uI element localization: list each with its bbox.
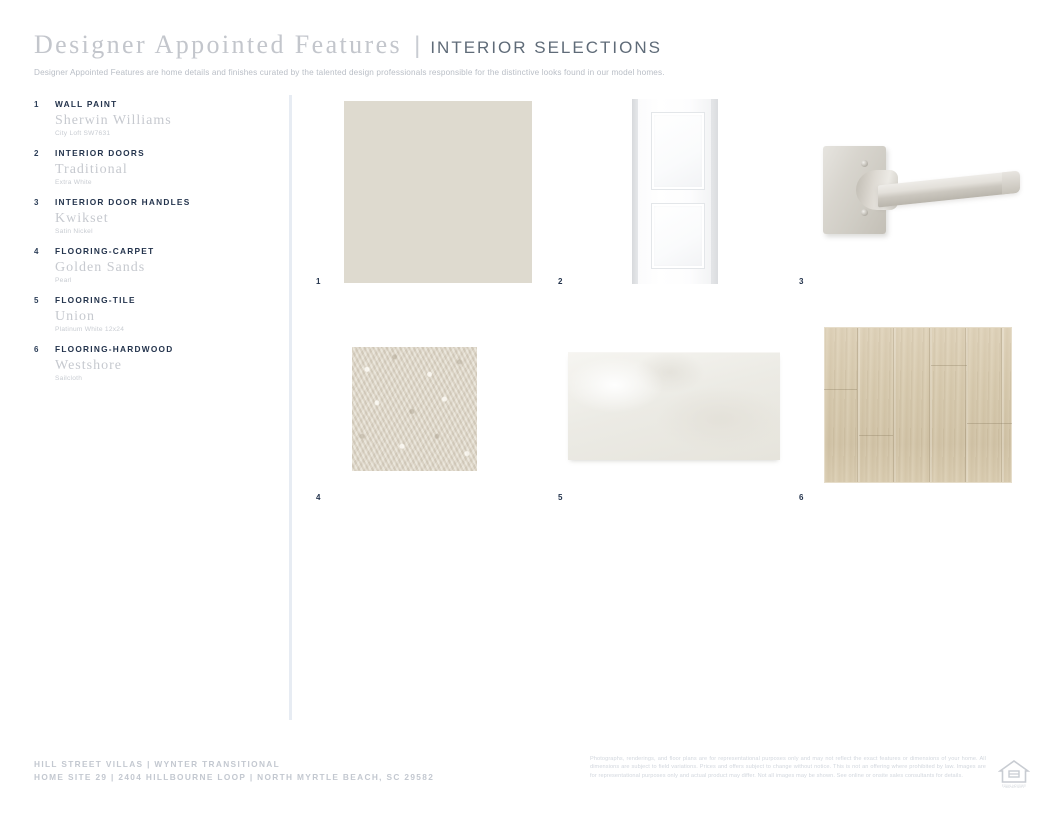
swatch-number-5: 5: [558, 493, 563, 502]
list-item-detail: Pearl: [55, 276, 274, 285]
door-panel-top: [651, 112, 705, 190]
footer-community-info: HILL STREET VILLAS | WYNTER TRANSITIONAL…: [34, 758, 434, 784]
list-item[interactable]: 2 INTERIOR DOORS Traditional Extra White: [34, 147, 274, 187]
list-item-number: 1: [34, 100, 50, 109]
page-title: Designer Appointed Features | INTERIOR S…: [34, 30, 1024, 60]
list-item-detail: Satin Nickel: [55, 227, 274, 236]
wood-plank-seam: [859, 435, 893, 436]
list-item-category: INTERIOR DOOR HANDLES: [55, 196, 274, 208]
selections-list: 1 WALL PAINT Sherwin Williams City Loft …: [34, 98, 274, 392]
list-item-brand: Golden Sands: [55, 260, 274, 275]
list-item-brand: Traditional: [55, 162, 274, 177]
designer-features-page: Designer Appointed Features | INTERIOR S…: [0, 0, 1055, 815]
list-item-detail: Sailcloth: [55, 374, 274, 383]
title-main: Designer Appointed Features: [34, 30, 402, 60]
swatch-number-1: 1: [316, 277, 321, 286]
door-body: [638, 99, 712, 284]
list-item-number: 6: [34, 345, 50, 354]
page-subtitle: Designer Appointed Features are home det…: [34, 68, 1024, 77]
swatch-number-6: 6: [799, 493, 804, 502]
list-item-category: FLOORING-HARDWOOD: [55, 343, 274, 355]
handle-lever: [878, 171, 1020, 208]
list-item-brand: Sherwin Williams: [55, 113, 274, 128]
list-item-brand: Union: [55, 309, 274, 324]
title-divider: |: [414, 32, 420, 60]
list-item-detail: Extra White: [55, 178, 274, 187]
footer-line-1: HILL STREET VILLAS | WYNTER TRANSITIONAL: [34, 758, 434, 771]
svg-text:OPPORTUNITY: OPPORTUNITY: [1003, 785, 1024, 788]
door-panel-bottom: [651, 203, 705, 269]
wood-plank-seam: [967, 423, 1012, 424]
list-item-number: 4: [34, 247, 50, 256]
list-item-category: WALL PAINT: [55, 98, 274, 110]
hardwood-image: [824, 327, 1012, 483]
wood-plank-seam: [824, 389, 857, 390]
list-item-number: 3: [34, 198, 50, 207]
swatch-number-4: 4: [316, 493, 321, 502]
rose-screw-icon: [861, 209, 868, 216]
rose-screw-icon: [861, 160, 868, 167]
list-item-brand: Kwikset: [55, 211, 274, 226]
equal-housing-opportunity-icon: EQUAL HOUSING OPPORTUNITY: [998, 757, 1030, 788]
footer-line-2: HOME SITE 29 | 2404 HILLBOURNE LOOP | NO…: [34, 771, 434, 784]
list-item-number: 2: [34, 149, 50, 158]
list-item[interactable]: 4 FLOORING-CARPET Golden Sands Pearl: [34, 245, 274, 285]
list-item[interactable]: 1 WALL PAINT Sherwin Williams City Loft …: [34, 98, 274, 138]
list-item-number: 5: [34, 296, 50, 305]
list-item[interactable]: 5 FLOORING-TILE Union Platinum White 12x…: [34, 294, 274, 334]
list-item-detail: Platinum White 12x24: [55, 325, 274, 334]
list-item-category: FLOORING-TILE: [55, 294, 274, 306]
title-subheading: INTERIOR SELECTIONS: [430, 38, 662, 58]
swatch-number-2: 2: [558, 277, 563, 286]
carpet-image: [352, 347, 477, 471]
paint-swatch-image: [344, 101, 532, 283]
list-item-category: INTERIOR DOORS: [55, 147, 274, 159]
handle-lever-tip: [1002, 171, 1020, 195]
list-item-brand: Westshore: [55, 358, 274, 373]
list-item-detail: City Loft SW7631: [55, 129, 274, 138]
list-item[interactable]: 6 FLOORING-HARDWOOD Westshore Sailcloth: [34, 343, 274, 383]
door-handle-image: [818, 142, 1020, 242]
wood-plank-seam: [931, 365, 967, 366]
list-item[interactable]: 3 INTERIOR DOOR HANDLES Kwikset Satin Ni…: [34, 196, 274, 236]
footer-legal-disclaimer: Photographs, renderings, and floor plans…: [590, 755, 986, 780]
door-image: [632, 99, 718, 284]
tile-image: [568, 352, 780, 460]
swatch-number-3: 3: [799, 277, 804, 286]
vertical-divider: [289, 95, 292, 720]
page-header: Designer Appointed Features | INTERIOR S…: [34, 30, 1024, 77]
list-item-category: FLOORING-CARPET: [55, 245, 274, 257]
